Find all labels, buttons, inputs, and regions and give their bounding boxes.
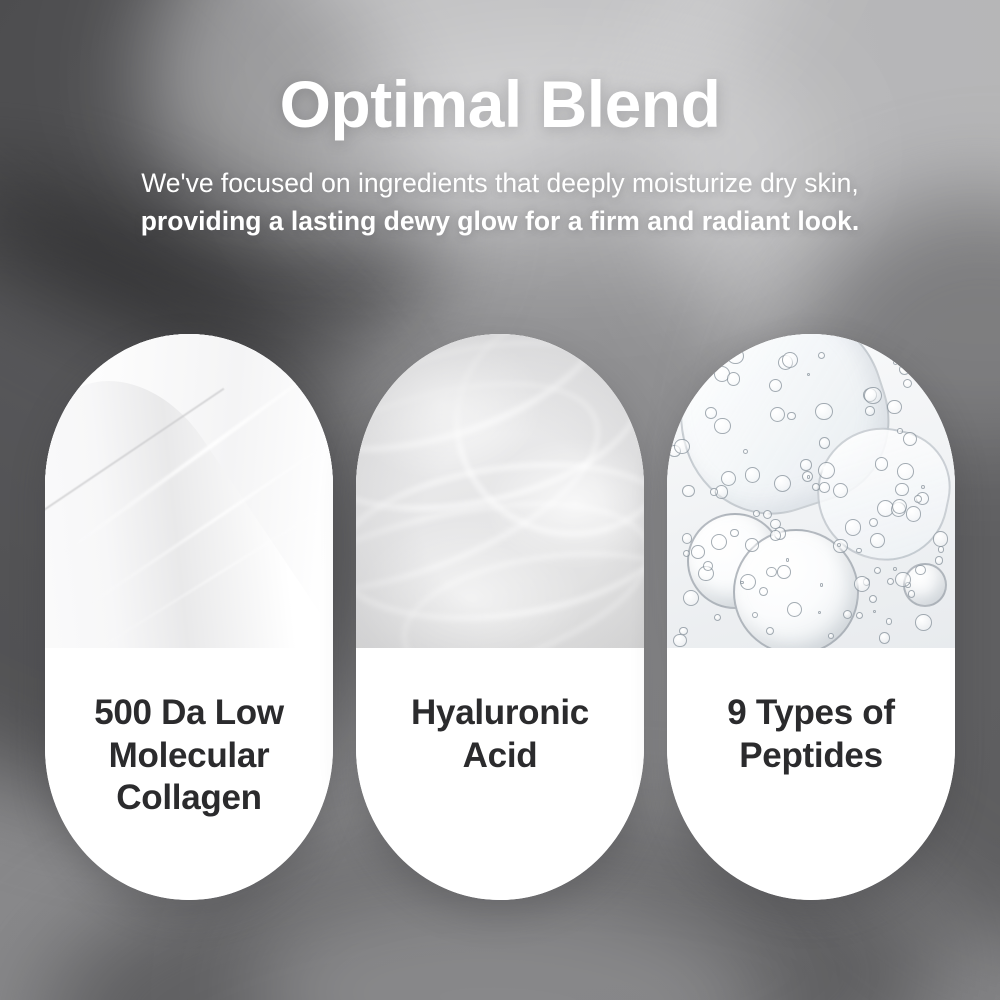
serum-bubble-small — [938, 546, 944, 552]
serum-bubble-small — [903, 432, 917, 446]
serum-bubble-small — [893, 567, 897, 571]
serum-bubble-small — [769, 379, 782, 392]
card-label-peptides: 9 Types of Peptides — [667, 648, 955, 900]
water-vignette — [356, 334, 644, 648]
serum-bubble-small — [906, 506, 922, 522]
serum-bubble-small — [777, 565, 791, 579]
serum-bubble-small — [727, 372, 741, 386]
cream-texture-art — [45, 334, 333, 648]
card-image-peptides — [667, 334, 955, 648]
serum-bubble-small — [782, 352, 798, 368]
card-label-hyaluronic-acid: Hyaluronic Acid — [356, 648, 644, 900]
serum-bubble-small — [869, 595, 878, 604]
serum-bubble-small — [714, 418, 730, 434]
subtitle-line-1: We've focused on ingredients that deeply… — [141, 168, 859, 198]
serum-bubble-small — [895, 483, 909, 497]
serum-bubble-small — [705, 407, 717, 419]
serum-bubble-small — [887, 400, 902, 415]
serum-bubble-small — [893, 360, 898, 365]
serum-bubble-small — [766, 627, 774, 635]
serum-bubble-small — [740, 581, 744, 585]
serum-bubble-small — [714, 614, 722, 622]
serum-bubble-small — [812, 483, 820, 491]
serum-bubble-small — [874, 567, 881, 574]
serum-bubble-small — [921, 485, 925, 489]
serum-bubble-small — [935, 556, 944, 565]
serum-bubble-small — [892, 499, 907, 514]
serum-bubble-small — [837, 543, 841, 547]
serum-bubble-small — [766, 567, 776, 577]
serum-bubble-small — [679, 627, 687, 635]
serum-bubble-small — [819, 437, 831, 449]
card-image-collagen — [45, 334, 333, 648]
serum-bubble-small — [886, 618, 893, 625]
serum-bubble-small — [730, 529, 738, 537]
card-image-hyaluronic-acid — [356, 334, 644, 648]
serum-bubble-small — [770, 407, 785, 422]
serum-bubble-small — [899, 362, 904, 367]
serum-bubble-small — [745, 538, 759, 552]
serum-bubble-small — [915, 614, 932, 631]
water-ripple-art — [356, 334, 644, 648]
serum-bubble-small — [845, 519, 862, 536]
serum-bubble-small — [682, 533, 692, 543]
ingredient-card-peptides[interactable]: 9 Types of Peptides — [667, 334, 955, 900]
serum-bubble-small — [683, 590, 699, 606]
serum-bubble-small — [833, 483, 848, 498]
serum-bubble-small — [854, 576, 870, 592]
serum-bubble-small — [828, 633, 834, 639]
page-title: Optimal Blend — [0, 70, 1000, 139]
header-block: Optimal Blend We've focused on ingredien… — [0, 70, 1000, 241]
card-label-text: 9 Types of Peptides — [681, 692, 941, 777]
serum-bubbles-art — [667, 334, 955, 648]
serum-bubble-small — [818, 352, 825, 359]
serum-bubble-small — [870, 533, 885, 548]
serum-bubble-small — [897, 428, 903, 434]
serum-bubble-small — [673, 634, 687, 648]
serum-bubble-small — [674, 439, 689, 454]
serum-bubble-small — [710, 488, 717, 495]
serum-bubble-small — [856, 548, 862, 554]
serum-bubble-small — [856, 612, 863, 619]
serum-bubble-small — [763, 510, 772, 519]
promo-banner: Optimal Blend We've focused on ingredien… — [0, 0, 1000, 1000]
serum-bubble-small — [864, 387, 881, 404]
subtitle-line-2: providing a lasting dewy glow for a firm… — [0, 203, 1000, 241]
serum-bubble-small — [721, 471, 736, 486]
serum-bubble-small — [869, 518, 878, 527]
serum-bubble-small — [682, 485, 695, 498]
serum-bubble-small — [800, 459, 811, 470]
ingredient-card-hyaluronic-acid[interactable]: Hyaluronic Acid — [356, 334, 644, 900]
page-subtitle: We've focused on ingredients that deeply… — [0, 165, 1000, 240]
card-label-collagen: 500 Da Low Molecular Collagen — [45, 648, 333, 900]
serum-bubble-small — [875, 457, 888, 470]
serum-bubble-small — [759, 587, 768, 596]
serum-bubble-small — [745, 467, 760, 482]
serum-bubble-small — [787, 412, 796, 421]
card-label-text: Hyaluronic Acid — [370, 692, 630, 777]
serum-bubble-small — [671, 334, 686, 349]
serum-bubble-small — [691, 545, 705, 559]
serum-bubble-small — [887, 578, 895, 586]
serum-bubble-small — [752, 612, 758, 618]
serum-bubble-small — [914, 495, 922, 503]
serum-bubble-small — [774, 475, 791, 492]
serum-bubble-small — [863, 336, 868, 341]
serum-bubble-small — [903, 379, 912, 388]
serum-bubble-small — [915, 565, 925, 575]
serum-bubble-small — [940, 337, 946, 343]
serum-bubble-small — [818, 462, 835, 479]
serum-bubble-small — [683, 550, 690, 557]
serum-bubble-small — [770, 530, 780, 540]
serum-bubble-small — [873, 610, 876, 613]
card-label-text: 500 Da Low Molecular Collagen — [59, 692, 319, 820]
serum-bubble-small — [933, 531, 949, 547]
serum-bubble-small — [865, 406, 874, 415]
serum-bubble-small — [908, 590, 915, 597]
serum-bubble-small — [753, 510, 760, 517]
serum-bubble-small — [819, 482, 829, 492]
ingredient-card-collagen[interactable]: 500 Da Low Molecular Collagen — [45, 334, 333, 900]
serum-bubble-small — [818, 611, 821, 614]
serum-bubble-small — [815, 403, 832, 420]
ingredient-card-list: 500 Da Low Molecular Collagen — [45, 334, 955, 900]
serum-bubble-small — [743, 449, 749, 455]
serum-bubble-small — [843, 610, 852, 619]
serum-bubble-small — [879, 632, 890, 643]
